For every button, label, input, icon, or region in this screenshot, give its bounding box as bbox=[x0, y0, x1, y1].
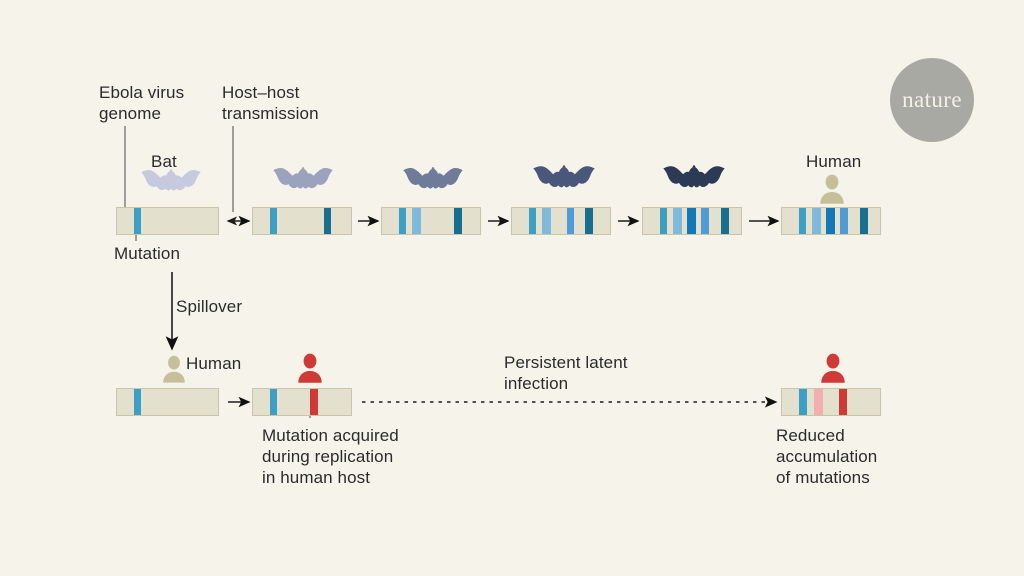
bat-icon-3 bbox=[403, 167, 462, 189]
bat-icon-1 bbox=[141, 169, 200, 191]
genome-bar-top-4 bbox=[511, 207, 611, 235]
human-icon-bottom-3 bbox=[821, 354, 844, 383]
label-reduced-accumulation: Reduced accumulation of mutations bbox=[776, 425, 877, 488]
genome-bar-top-1 bbox=[116, 207, 219, 235]
mutation-band-top-6-1 bbox=[799, 208, 806, 234]
genome-bar-top-3 bbox=[381, 207, 481, 235]
mutation-band-top-4-4 bbox=[585, 208, 593, 234]
human-icon-top bbox=[820, 175, 843, 204]
label-human-bottom: Human bbox=[186, 353, 241, 374]
label-mutation: Mutation bbox=[114, 243, 180, 264]
mutation-band-bottom-3-3 bbox=[839, 389, 847, 415]
mutation-band-top-5-2 bbox=[673, 208, 682, 234]
mutation-band-top-6-2 bbox=[812, 208, 821, 234]
nature-logo: nature bbox=[890, 58, 974, 142]
ebola-mutation-diagram: nature Ebola virus genome Host–host tran… bbox=[0, 0, 1024, 576]
mutation-band-bottom-1-1 bbox=[134, 389, 141, 415]
mutation-band-top-5-5 bbox=[721, 208, 729, 234]
mutation-band-top-6-5 bbox=[860, 208, 868, 234]
genome-bar-top-6 bbox=[781, 207, 881, 235]
mutation-band-top-6-4 bbox=[840, 208, 848, 234]
label-bat: Bat bbox=[151, 151, 177, 172]
label-spillover: Spillover bbox=[176, 296, 242, 317]
label-host-host-transmission: Host–host transmission bbox=[222, 82, 319, 124]
label-human-top: Human bbox=[806, 151, 861, 172]
mutation-band-bottom-2-2 bbox=[310, 389, 318, 415]
genome-bar-bottom-2 bbox=[252, 388, 352, 416]
mutation-band-top-2-1 bbox=[270, 208, 277, 234]
mutation-band-top-5-1 bbox=[660, 208, 667, 234]
bat-icon-5 bbox=[663, 165, 724, 187]
mutation-band-top-3-1 bbox=[399, 208, 406, 234]
mutation-band-top-2-2 bbox=[324, 208, 331, 234]
genome-bar-bottom-1 bbox=[116, 388, 219, 416]
label-persistent-latent-infection: Persistent latent infection bbox=[504, 352, 628, 394]
mutation-band-top-4-2 bbox=[542, 208, 551, 234]
human-icon-bottom-1 bbox=[163, 356, 185, 383]
mutation-band-top-3-3 bbox=[454, 208, 462, 234]
human-icon-bottom-2 bbox=[298, 354, 321, 383]
label-mutation-acquired: Mutation acquired during replication in … bbox=[262, 425, 399, 488]
mutation-band-top-4-1 bbox=[529, 208, 536, 234]
mutation-band-bottom-2-1 bbox=[270, 389, 277, 415]
mutation-band-top-5-3 bbox=[687, 208, 696, 234]
bat-icon-4 bbox=[533, 165, 594, 187]
bat-icon-2 bbox=[273, 167, 332, 189]
mutation-band-bottom-3-2 bbox=[814, 389, 823, 415]
mutation-band-top-5-4 bbox=[701, 208, 709, 234]
mutation-band-bottom-3-1 bbox=[799, 389, 807, 415]
genome-bar-top-2 bbox=[252, 207, 352, 235]
mutation-band-top-6-3 bbox=[826, 208, 835, 234]
genome-bar-bottom-3 bbox=[781, 388, 881, 416]
mutation-band-top-4-3 bbox=[567, 208, 574, 234]
mutation-band-top-1-1 bbox=[134, 208, 141, 234]
label-ebola-virus-genome: Ebola virus genome bbox=[99, 82, 184, 124]
mutation-band-top-3-2 bbox=[412, 208, 421, 234]
nature-logo-text: nature bbox=[902, 87, 962, 113]
genome-bar-top-5 bbox=[642, 207, 742, 235]
